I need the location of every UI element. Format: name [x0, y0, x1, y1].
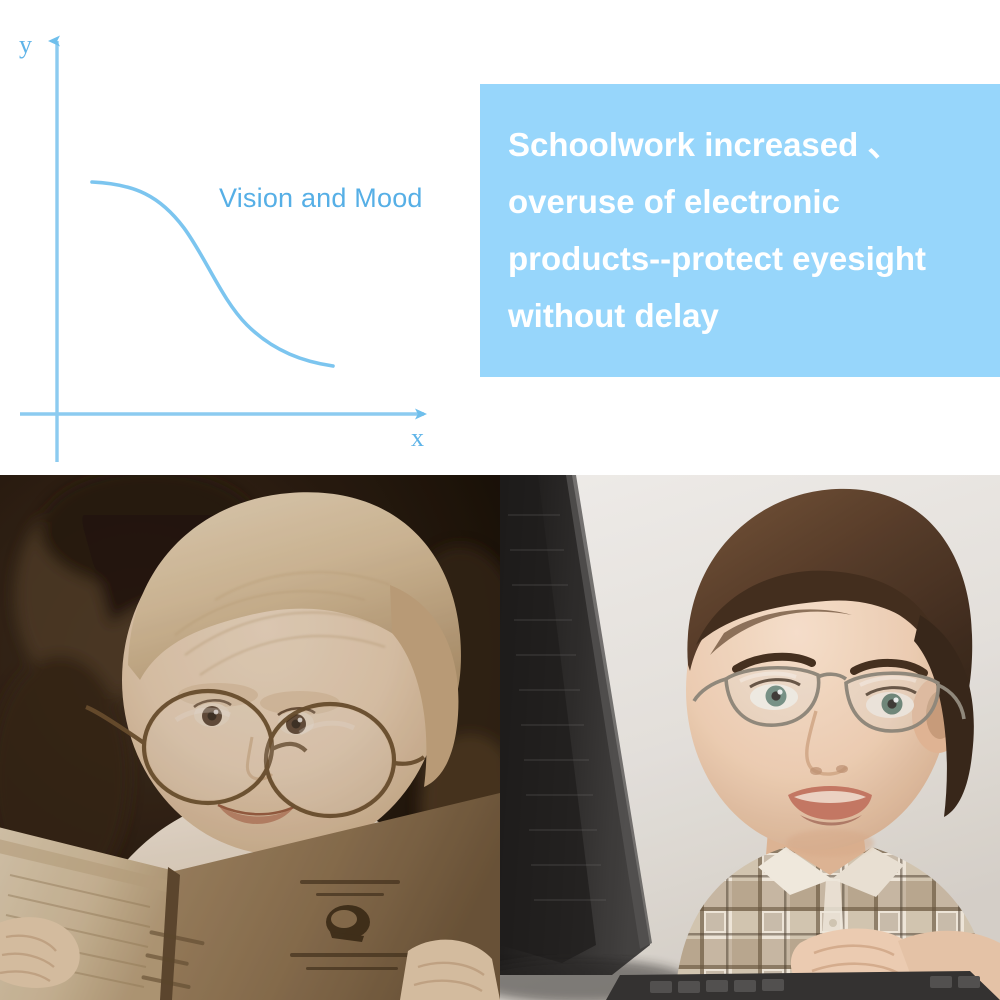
infographic-page: y x Vision and Mood Schoolwork increased… — [0, 0, 1000, 1000]
headline-line-1: Schoolwork increased 、 — [508, 116, 990, 173]
top-section: y x Vision and Mood Schoolwork increased… — [0, 0, 1000, 475]
chart-series-label: Vision and Mood — [219, 183, 423, 214]
baby-reading-book-photo — [0, 475, 500, 1000]
photo-strip — [0, 475, 1000, 1000]
headline-line-2: overuse of electronic — [508, 173, 990, 230]
baby-photo-svg — [0, 475, 500, 1000]
boy-photo-svg — [500, 475, 1000, 1000]
y-axis-label: y — [19, 30, 32, 60]
vision-mood-chart: y x Vision and Mood — [0, 0, 470, 470]
headline-panel: Schoolwork increased 、 overuse of electr… — [480, 84, 1000, 377]
chart-svg — [0, 0, 470, 470]
headline-line-3: products--protect eyesight — [508, 230, 990, 287]
headline-line-4: without delay — [508, 287, 990, 344]
x-axis-label: x — [411, 423, 424, 453]
boy-at-computer-photo — [500, 475, 1000, 1000]
